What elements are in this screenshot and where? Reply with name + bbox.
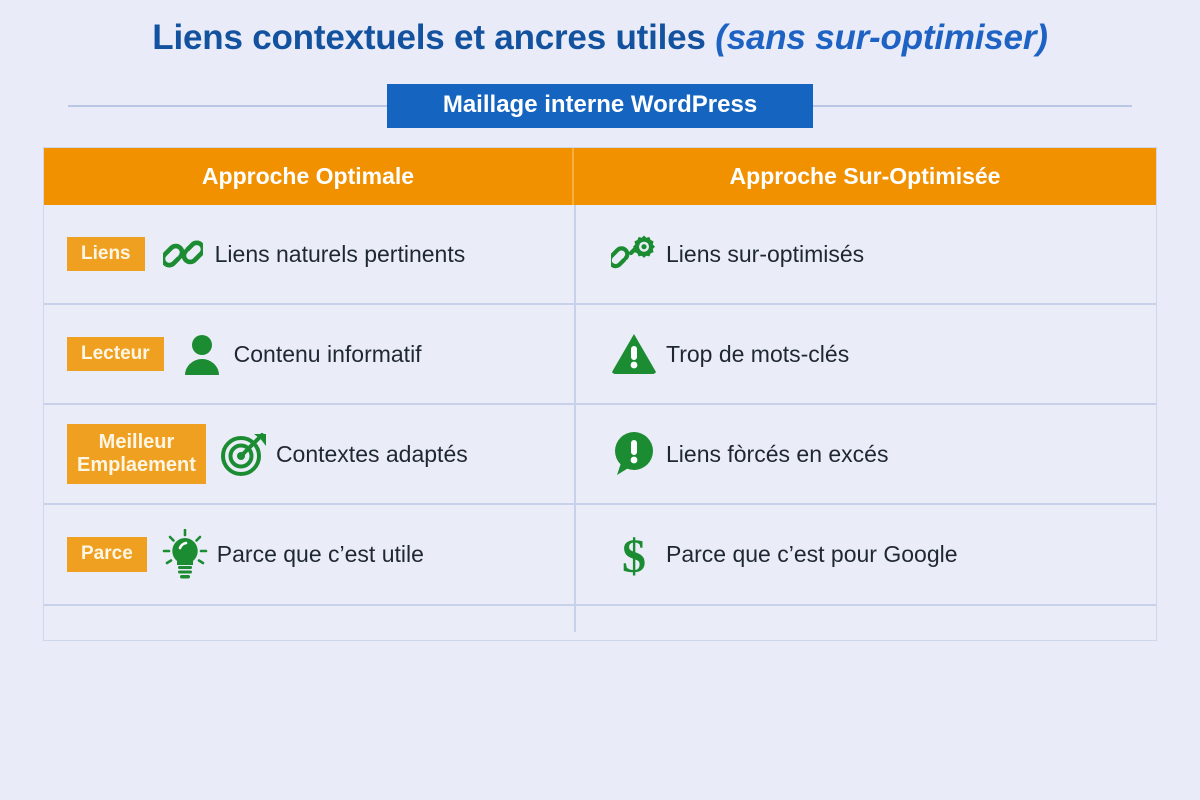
row-label: Liens naturels pertinents: [215, 241, 466, 268]
row-badge: Parce: [67, 537, 147, 571]
column-divider: [574, 205, 576, 632]
subtitle-banner: Maillage interne WordPress: [387, 84, 813, 128]
row-label: Parce que c’est utile: [217, 541, 424, 568]
row-label: Liens fòrcés en excés: [666, 441, 888, 468]
table-row: Lecteur Contenu informatif: [44, 305, 1156, 405]
row-label: Contextes adaptés: [276, 441, 468, 468]
column-header-over-optimized: Approche Sur-Optimisée: [574, 148, 1156, 205]
cell-optimal: Meilleur Emplaement: [44, 405, 574, 503]
comparison-table: Approche Optimale Approche Sur-Optimisée…: [43, 147, 1157, 641]
dollar-sign-icon: $: [606, 527, 662, 583]
page-title: Liens contextuels et ancres utiles (sans…: [0, 18, 1200, 58]
row-badge: Lecteur: [67, 337, 164, 371]
table-row: Meilleur Emplaement: [44, 405, 1156, 505]
table-header-row: Approche Optimale Approche Sur-Optimisée: [44, 148, 1156, 205]
table-row: Parce: [44, 505, 1156, 606]
row-label: Liens sur-optimisés: [666, 241, 864, 268]
cell-optimal: Lecteur Contenu informatif: [44, 305, 574, 403]
table-row: Liens Liens naturels pertinents: [44, 205, 1156, 305]
page-title-parenthetical: (sans sur-optimiser): [715, 18, 1047, 57]
subtitle-row: Maillage interne WordPress: [68, 85, 1132, 127]
person-icon: [174, 326, 230, 382]
svg-text:$: $: [622, 530, 646, 580]
cell-optimal: Parce: [44, 505, 574, 604]
cell-optimal: Liens Liens naturels pertinents: [44, 205, 574, 303]
page-title-main: Liens contextuels et ancres utiles: [152, 18, 715, 57]
row-badge: Liens: [67, 237, 145, 271]
row-badge: Meilleur Emplaement: [67, 424, 206, 484]
row-label: Parce que c’est pour Google: [666, 541, 958, 568]
cell-over-optimized: Liens sur-optimisés: [574, 205, 1156, 303]
chain-link-icon: [155, 226, 211, 282]
rule-left: [68, 105, 387, 107]
row-label: Contenu informatif: [234, 341, 422, 368]
column-header-optimal: Approche Optimale: [44, 148, 574, 205]
table-body: Liens Liens naturels pertinents: [44, 205, 1156, 606]
speech-bubble-alert-icon: [606, 426, 662, 482]
warning-triangle-icon: [606, 326, 662, 382]
cell-over-optimized: Trop de mots-clés: [574, 305, 1156, 403]
lightbulb-icon: [157, 527, 213, 583]
cell-over-optimized: Liens fòrcés en excés: [574, 405, 1156, 503]
rule-right: [813, 105, 1132, 107]
row-label: Trop de mots-clés: [666, 341, 849, 368]
chain-link-gear-icon: [606, 226, 662, 282]
target-dart-icon: [216, 426, 272, 482]
cell-over-optimized: $ Parce que c’est pour Google: [574, 505, 1156, 604]
